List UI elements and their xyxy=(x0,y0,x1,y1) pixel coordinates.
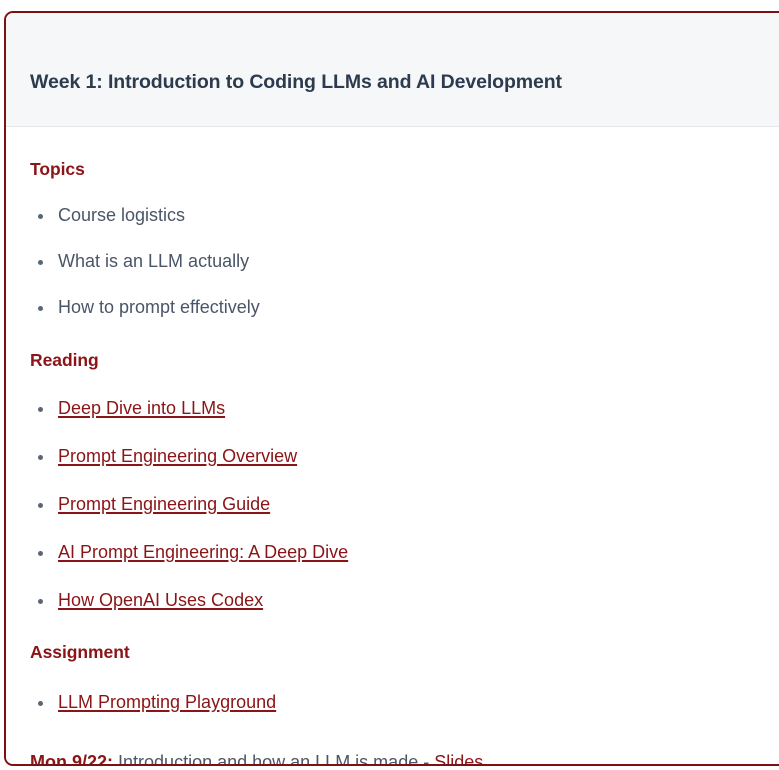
list-item: LLM Prompting Playground xyxy=(30,693,778,711)
topic-label: Course logistics xyxy=(58,205,185,225)
card-header: Week 1: Introduction to Coding LLMs and … xyxy=(6,13,779,127)
page-title: Week 1: Introduction to Coding LLMs and … xyxy=(30,71,562,94)
list-item: What is an LLM actually xyxy=(30,252,778,270)
reading-link[interactable]: AI Prompt Engineering: A Deep Dive xyxy=(58,542,348,562)
list-item: AI Prompt Engineering: A Deep Dive xyxy=(30,543,778,561)
list-item: Prompt Engineering Guide xyxy=(30,495,778,513)
reading-link[interactable]: How OpenAI Uses Codex xyxy=(58,590,263,610)
topics-list: Course logistics What is an LLM actually… xyxy=(30,206,778,316)
reading-link[interactable]: Prompt Engineering Overview xyxy=(58,446,297,466)
session-row-monday: Mon 9/22: Introduction and how an LLM is… xyxy=(30,711,778,766)
session-date: Mon 9/22: xyxy=(30,752,113,766)
week-card: Week 1: Introduction to Coding LLMs and … xyxy=(4,11,779,766)
assignment-link[interactable]: LLM Prompting Playground xyxy=(58,692,276,712)
topic-label: What is an LLM actually xyxy=(58,251,249,271)
session-description: Introduction and how an LLM is made xyxy=(118,752,418,766)
section-heading-topics: Topics xyxy=(30,127,778,180)
list-item: Prompt Engineering Overview xyxy=(30,447,778,465)
reading-list: Deep Dive into LLMs Prompt Engineering O… xyxy=(30,399,778,609)
list-item: How to prompt effectively xyxy=(30,298,778,316)
list-item: How OpenAI Uses Codex xyxy=(30,591,778,609)
reading-link[interactable]: Deep Dive into LLMs xyxy=(58,398,225,418)
assignment-list: LLM Prompting Playground xyxy=(30,693,778,711)
topic-label: How to prompt effectively xyxy=(58,297,260,317)
section-heading-assignment: Assignment xyxy=(30,609,778,663)
list-item: Deep Dive into LLMs xyxy=(30,399,778,417)
slides-link[interactable]: Slides xyxy=(434,752,483,766)
section-heading-reading: Reading xyxy=(30,316,778,371)
reading-link[interactable]: Prompt Engineering Guide xyxy=(58,494,270,514)
session-separator: - xyxy=(423,752,429,766)
card-body: Topics Course logistics What is an LLM a… xyxy=(6,127,779,766)
list-item: Course logistics xyxy=(30,206,778,224)
